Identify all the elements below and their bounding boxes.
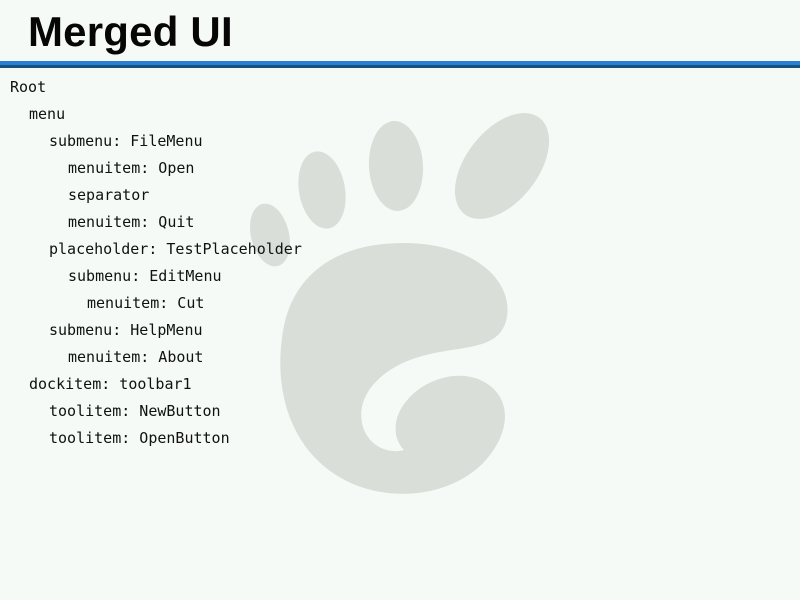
window-header: Merged UI	[0, 0, 800, 62]
tree-node-submenu[interactable]: submenu: FileMenu	[0, 128, 800, 155]
header-divider-shadow	[0, 65, 800, 68]
tree-node-label: menu	[29, 101, 65, 128]
tree-node-placeholder[interactable]: placeholder: TestPlaceholder	[0, 236, 800, 263]
header-divider	[0, 61, 800, 68]
tree-node-submenu[interactable]: submenu: HelpMenu	[0, 317, 800, 344]
tree-node-label: menuitem: Open	[68, 155, 194, 182]
tree-node-label: placeholder: TestPlaceholder	[49, 236, 302, 263]
tree-node-dockitem[interactable]: dockitem: toolbar1	[0, 371, 800, 398]
tree-node-label: submenu: EditMenu	[68, 263, 222, 290]
tree-node-separator[interactable]: separator	[0, 182, 800, 209]
tree-node-label: toolitem: OpenButton	[49, 425, 230, 452]
tree-node-root[interactable]: Root	[0, 74, 800, 101]
tree-node-toolitem[interactable]: toolitem: OpenButton	[0, 425, 800, 452]
tree-node-label: dockitem: toolbar1	[29, 371, 192, 398]
tree-node-submenu[interactable]: submenu: EditMenu	[0, 263, 800, 290]
tree-node-label: toolitem: NewButton	[49, 398, 221, 425]
tree-node-label: separator	[68, 182, 149, 209]
tree-node-label: submenu: HelpMenu	[49, 317, 203, 344]
tree-node-menuitem[interactable]: menuitem: Cut	[0, 290, 800, 317]
tree-node-label: menuitem: Quit	[68, 209, 194, 236]
ui-tree: Rootmenusubmenu: FileMenumenuitem: Opens…	[0, 74, 800, 452]
tree-node-label: submenu: FileMenu	[49, 128, 203, 155]
merged-ui-window: Merged UI Rootmenusubmenu: FileMenumenui…	[0, 0, 800, 600]
tree-node-label: menuitem: Cut	[87, 290, 204, 317]
tree-node-menu[interactable]: menu	[0, 101, 800, 128]
tree-node-toolitem[interactable]: toolitem: NewButton	[0, 398, 800, 425]
tree-node-menuitem[interactable]: menuitem: Open	[0, 155, 800, 182]
page-title: Merged UI	[28, 9, 233, 55]
tree-node-menuitem[interactable]: menuitem: Quit	[0, 209, 800, 236]
tree-node-label: menuitem: About	[68, 344, 203, 371]
tree-node-label: Root	[10, 74, 46, 101]
tree-node-menuitem[interactable]: menuitem: About	[0, 344, 800, 371]
